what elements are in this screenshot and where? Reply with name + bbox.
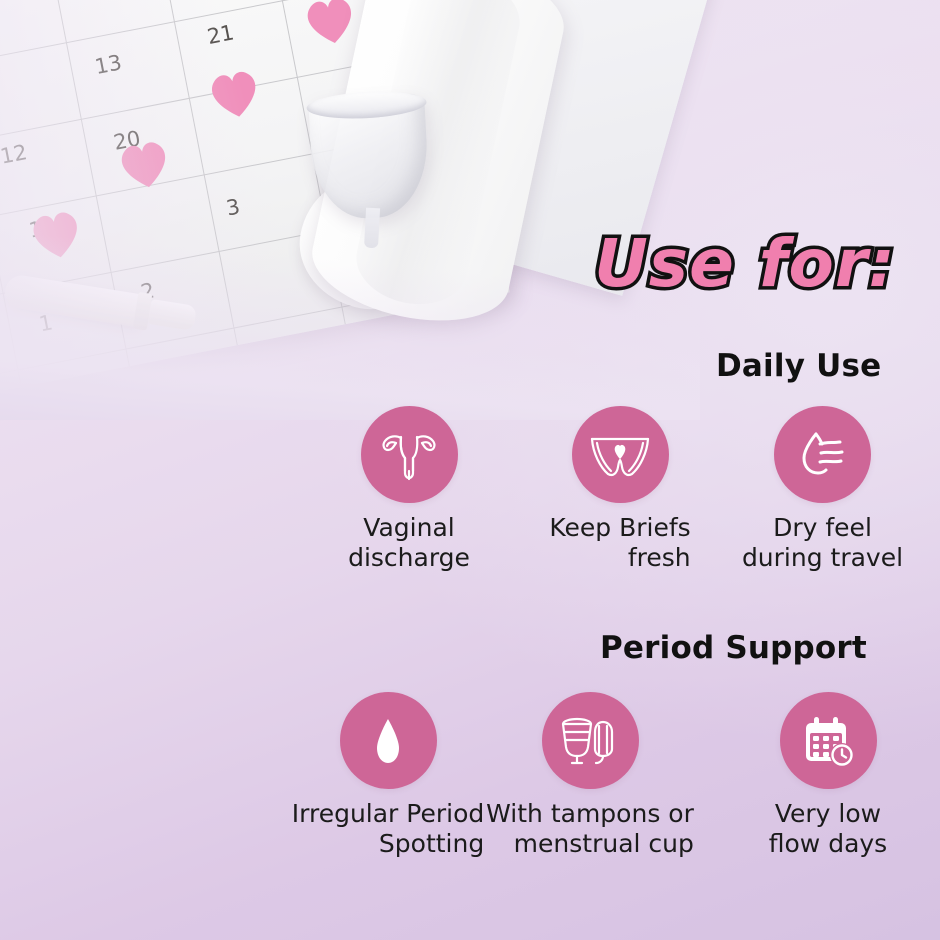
- blood-drop-icon-circle[interactable]: [340, 692, 437, 789]
- feature-label: Very low flow days: [769, 799, 887, 859]
- uterus-icon-circle[interactable]: [361, 406, 458, 503]
- feature-keep-briefs-fresh[interactable]: Keep Briefs fresh: [530, 406, 710, 573]
- feature-with-tampons-or-menstrual-cup[interactable]: With tampons or menstrual cup: [450, 692, 730, 859]
- calendar-day-number: 21: [205, 20, 236, 49]
- droplet-icon-circle[interactable]: [774, 406, 871, 503]
- calendar-day-number: 13: [93, 50, 124, 79]
- calendar-heart-marker: [202, 62, 267, 124]
- section-heading-period-support: Period Support: [600, 630, 867, 666]
- briefs-heart-icon: [588, 431, 652, 479]
- feature-label: Dry feel during travel: [742, 513, 903, 573]
- calendar-heart-marker: [24, 203, 89, 265]
- feature-vaginal-discharge[interactable]: Vaginal discharge: [314, 406, 504, 573]
- uterus-icon: [378, 427, 440, 483]
- calendar-clock-icon: [800, 714, 856, 768]
- droplet-waves-icon: [794, 428, 852, 482]
- blood-drop-icon: [371, 716, 405, 766]
- feature-dry-feel-during-travel[interactable]: Dry feel during travel: [700, 406, 940, 573]
- feature-label: With tampons or menstrual cup: [486, 799, 694, 859]
- calendar-day-number: 12: [0, 140, 29, 169]
- page-title: Use for:: [580, 231, 910, 297]
- poster-canvas: 22 3 13 21 12 20 5 19 18 3 2 1: [0, 0, 940, 940]
- feature-label: Keep Briefs fresh: [549, 513, 690, 573]
- section-heading-daily-use: Daily Use: [716, 348, 881, 384]
- feature-label: Vaginal discharge: [348, 513, 470, 573]
- cup-tampon-icon: [557, 713, 623, 769]
- briefs-icon-circle[interactable]: [572, 406, 669, 503]
- menstrual-cup-photo: [308, 93, 432, 247]
- feature-very-low-flow-days[interactable]: Very low flow days: [728, 692, 928, 859]
- calendar-heart-marker: [112, 133, 177, 195]
- calendar-clock-icon-circle[interactable]: [780, 692, 877, 789]
- cup-tampon-icon-circle[interactable]: [542, 692, 639, 789]
